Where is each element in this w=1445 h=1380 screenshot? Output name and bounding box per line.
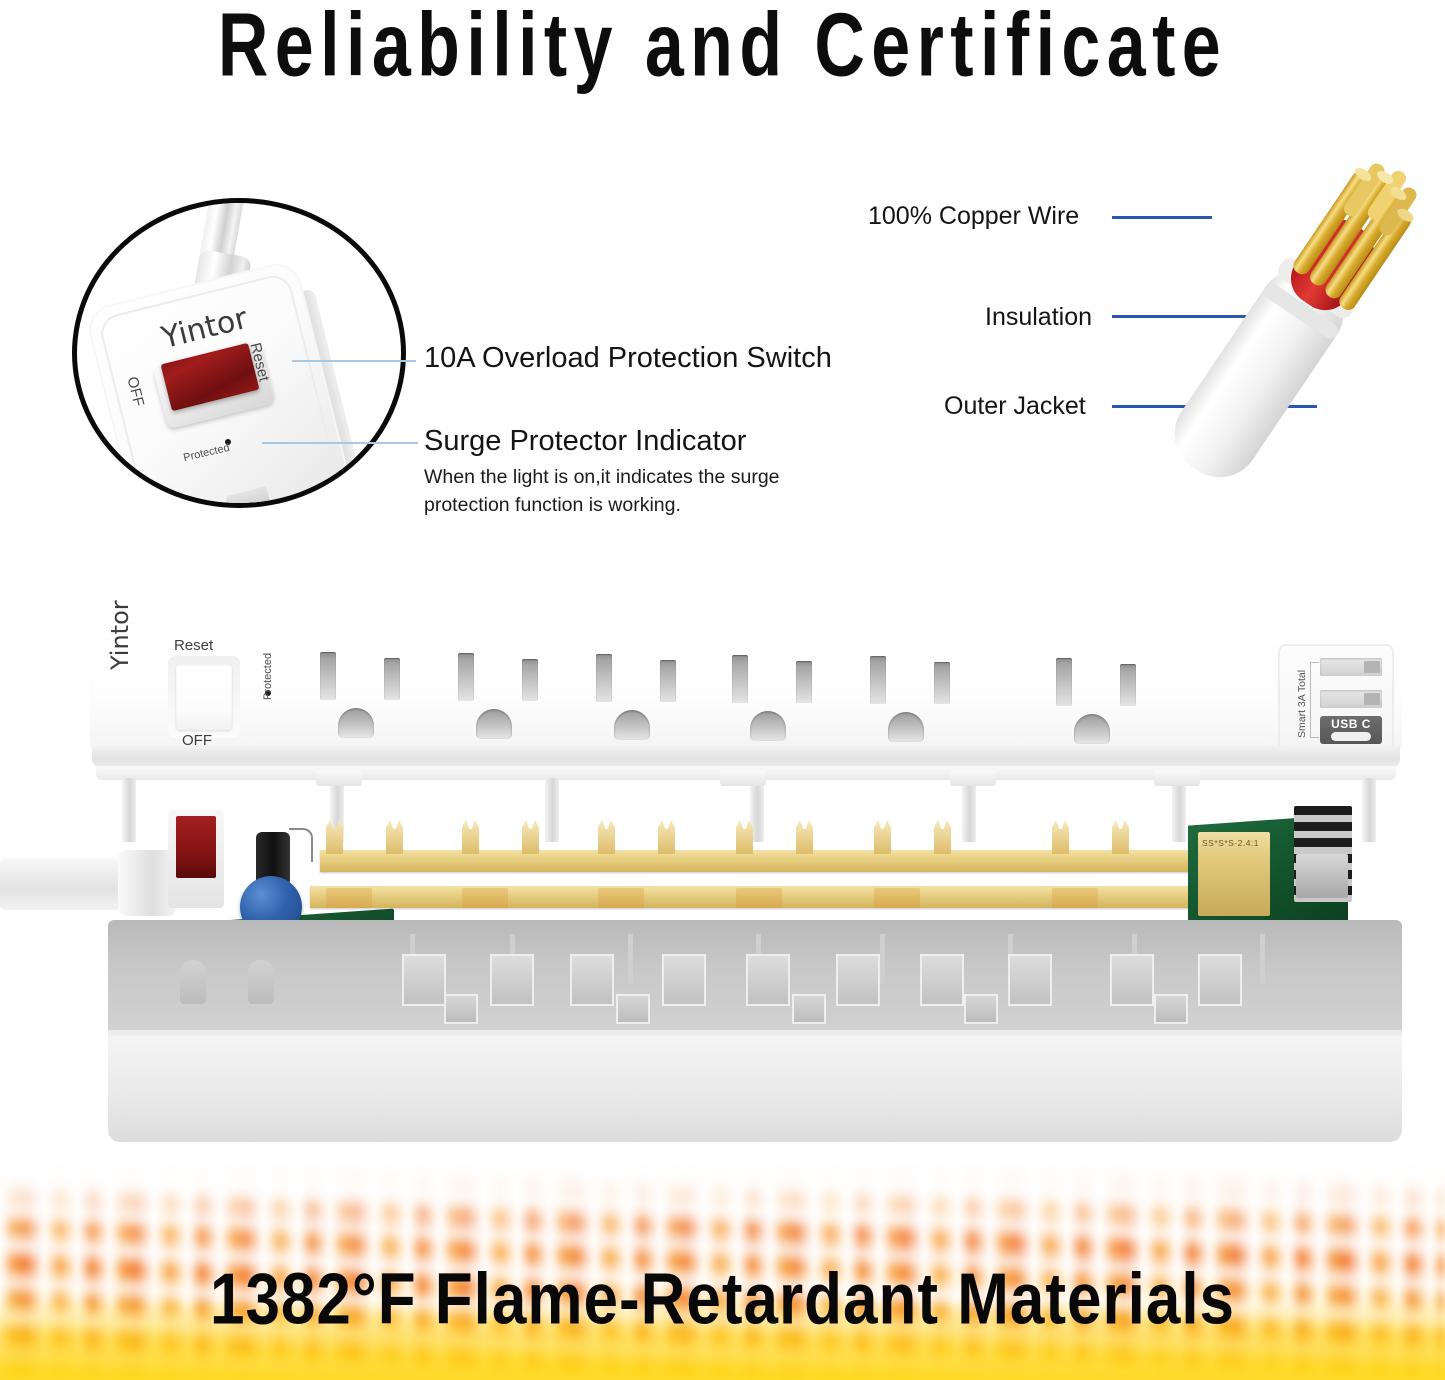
housing-front-face xyxy=(108,1036,1402,1142)
contact-pad xyxy=(462,888,508,908)
page-title: Reliability and Certificate xyxy=(58,0,1387,97)
cable-label-copper: 100% Copper Wire xyxy=(868,202,1079,231)
inset-stage: Yintor Reset OFF Protected xyxy=(77,203,406,508)
outlet-slot-neutral xyxy=(1056,658,1072,706)
contact-clip xyxy=(522,820,539,854)
usb-smart-label: Smart 3A Total xyxy=(1296,670,1308,738)
outlet-slot-neutral xyxy=(870,656,886,704)
contact-clip xyxy=(386,820,403,854)
outlet-slot-hot xyxy=(1120,664,1136,706)
contact-clip xyxy=(326,820,343,854)
usb-c-label: USB C xyxy=(1320,717,1382,731)
outlet-slot-hot xyxy=(522,659,538,701)
shell-latch-tab xyxy=(316,770,362,786)
outlet-ground-hole xyxy=(338,708,374,738)
outlet-slot-neutral xyxy=(458,653,474,701)
housing-rib-small xyxy=(616,994,650,1024)
contact-clip xyxy=(874,820,891,854)
housing-rib xyxy=(402,954,446,1006)
flame-banner: 1382°F Flame-Retardant Materials xyxy=(0,1158,1445,1380)
shell-latch-tab xyxy=(950,770,996,786)
ac-outlet[interactable] xyxy=(318,652,436,738)
housing-rib-small xyxy=(964,994,998,1024)
usb-port-face xyxy=(1296,854,1348,898)
housing-rib-small xyxy=(1154,994,1188,1024)
ac-outlet[interactable] xyxy=(730,655,848,741)
contact-pad xyxy=(736,888,782,908)
callout-line-overload xyxy=(292,360,416,362)
outlet-slot-neutral xyxy=(320,652,336,700)
bottom-housing xyxy=(108,920,1402,1148)
transformer-code: SS*S*S-2.4:1 xyxy=(1202,838,1259,848)
contact-clip xyxy=(1112,820,1129,854)
power-strip-exploded-view: Yintor Reset OFF Protected xyxy=(90,620,1420,1150)
reset-switch[interactable] xyxy=(176,664,232,730)
brass-busbar-upper xyxy=(320,850,1220,872)
screw-boss xyxy=(180,960,206,1004)
contact-pad xyxy=(326,888,372,908)
screw-boss xyxy=(248,960,274,1004)
usb-c-opening xyxy=(1331,732,1371,741)
outlet-slot-hot xyxy=(660,660,676,702)
reset-label: Reset xyxy=(174,637,213,654)
housing-rib-small xyxy=(792,994,826,1024)
outlet-ground-hole xyxy=(750,711,786,741)
housing-interior xyxy=(108,920,1402,1042)
housing-rib xyxy=(1008,954,1052,1006)
callout-line-surge xyxy=(262,442,418,444)
outlet-ground-hole xyxy=(614,710,650,740)
housing-rib xyxy=(1198,954,1242,1006)
contact-pad xyxy=(598,888,644,908)
usb-a-port[interactable] xyxy=(1320,690,1382,708)
contact-clip xyxy=(1052,820,1069,854)
contact-clip xyxy=(736,820,753,854)
contact-clip xyxy=(796,820,813,854)
contact-clip xyxy=(934,820,951,854)
contact-pad xyxy=(874,888,920,908)
ac-outlet[interactable] xyxy=(594,654,712,740)
outlet-slot-hot xyxy=(934,662,950,704)
switch-closeup-inset: Yintor Reset OFF Protected xyxy=(72,198,406,508)
cable-cutaway-illustration xyxy=(1140,150,1445,490)
housing-rib xyxy=(570,954,614,1006)
top-shell-bevel xyxy=(92,746,1400,768)
housing-rib xyxy=(490,954,534,1006)
power-plug xyxy=(0,858,128,910)
flame-top-fade xyxy=(0,1158,1445,1228)
shell-latch-tab xyxy=(720,770,766,786)
protected-label: Protected xyxy=(262,653,274,700)
callout-heading-surge: Surge Protector Indicator xyxy=(424,425,746,458)
outlet-slot-hot xyxy=(384,658,400,700)
shell-latch-tab xyxy=(1154,770,1200,786)
contact-clip xyxy=(598,820,615,854)
ac-outlet[interactable] xyxy=(456,653,574,739)
cable-label-jacket: Outer Jacket xyxy=(944,392,1086,421)
ac-outlet[interactable] xyxy=(868,656,986,742)
outlet-ground-hole xyxy=(1074,714,1110,744)
ac-outlet[interactable] xyxy=(1054,658,1172,744)
housing-rib xyxy=(1110,954,1154,1006)
internal-reset-switch xyxy=(168,810,224,908)
housing-rib xyxy=(662,954,706,1006)
housing-rib-small xyxy=(444,994,478,1024)
callout-heading-overload: 10A Overload Protection Switch xyxy=(424,342,832,375)
outlet-slot-neutral xyxy=(732,655,748,703)
usb-a-port[interactable] xyxy=(1320,658,1382,676)
housing-rib xyxy=(836,954,880,1006)
usb-charging-module: Smart 3A Total USB C xyxy=(1278,644,1394,752)
top-shell: Yintor Reset OFF Protected xyxy=(90,628,1402,750)
housing-post xyxy=(880,934,885,984)
cable-label-insulation: Insulation xyxy=(985,303,1092,332)
outlet-ground-hole xyxy=(476,709,512,739)
usb-bracket-icon xyxy=(1310,662,1319,738)
contact-pad xyxy=(1052,888,1098,908)
usb-c-port[interactable]: USB C xyxy=(1320,716,1382,744)
contact-clip xyxy=(462,820,479,854)
product-brand-logo: Yintor xyxy=(106,600,134,670)
usb-transformer: SS*S*S-2.4:1 xyxy=(1198,832,1270,916)
outlet-slot-neutral xyxy=(596,654,612,702)
outlet-ground-hole xyxy=(888,712,924,742)
housing-post xyxy=(628,934,633,984)
outlet-slot-hot xyxy=(796,661,812,703)
flame-banner-text: 1382°F Flame-Retardant Materials xyxy=(0,1258,1445,1340)
contact-clip xyxy=(658,820,675,854)
housing-post xyxy=(1260,934,1265,984)
housing-rib xyxy=(746,954,790,1006)
capacitor-lead xyxy=(289,828,313,862)
callout-description-surge: When the light is on,it indicates the su… xyxy=(424,464,894,519)
product-infographic: Reliability and Certificate Yintor Reset… xyxy=(0,0,1445,1380)
housing-rib xyxy=(920,954,964,1006)
